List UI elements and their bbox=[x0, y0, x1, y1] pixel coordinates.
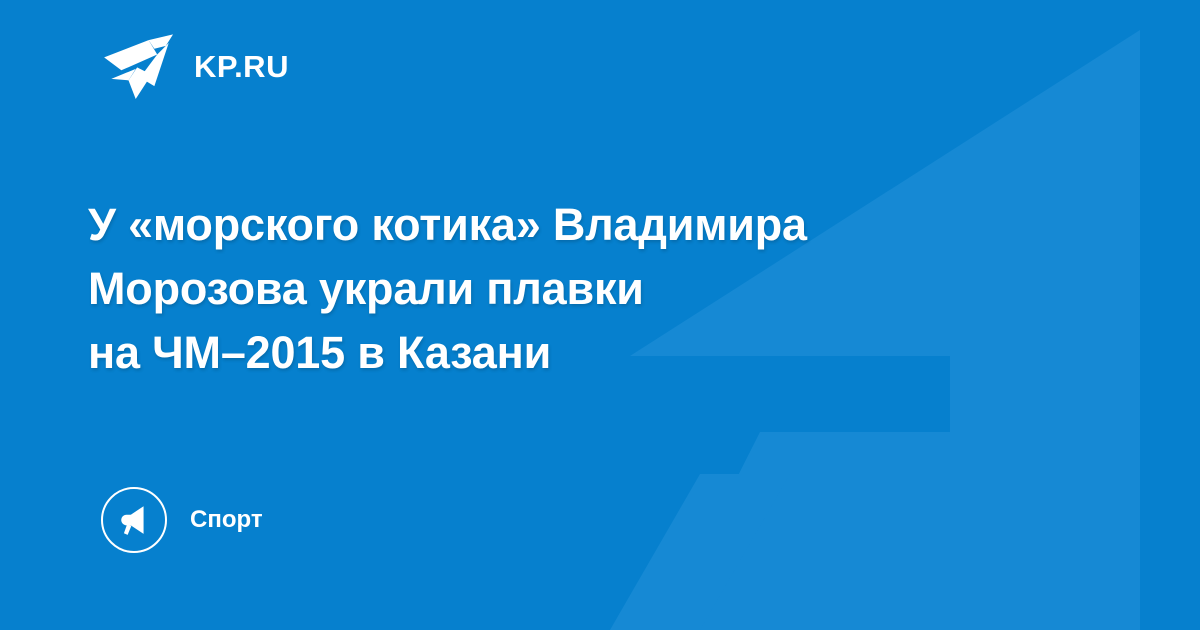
headline-line-3: на ЧМ–2015 в Казани bbox=[88, 321, 1098, 385]
category-label: Спорт bbox=[190, 508, 263, 532]
social-share-card: KP.RU У «морского котика» Владимира Моро… bbox=[0, 0, 1200, 630]
category-badge[interactable]: Спорт bbox=[101, 487, 263, 553]
headline-line-1: У «морского котика» Владимира bbox=[88, 193, 1098, 257]
site-header: KP.RU bbox=[104, 33, 289, 99]
brand-name: KP.RU bbox=[194, 51, 289, 82]
page-title: У «морского котика» Владимира Морозова у… bbox=[88, 193, 1098, 385]
megaphone-icon bbox=[101, 487, 167, 553]
headline-line-2: Морозова украли плавки bbox=[88, 257, 1098, 321]
swallow-logo-icon bbox=[104, 33, 176, 99]
